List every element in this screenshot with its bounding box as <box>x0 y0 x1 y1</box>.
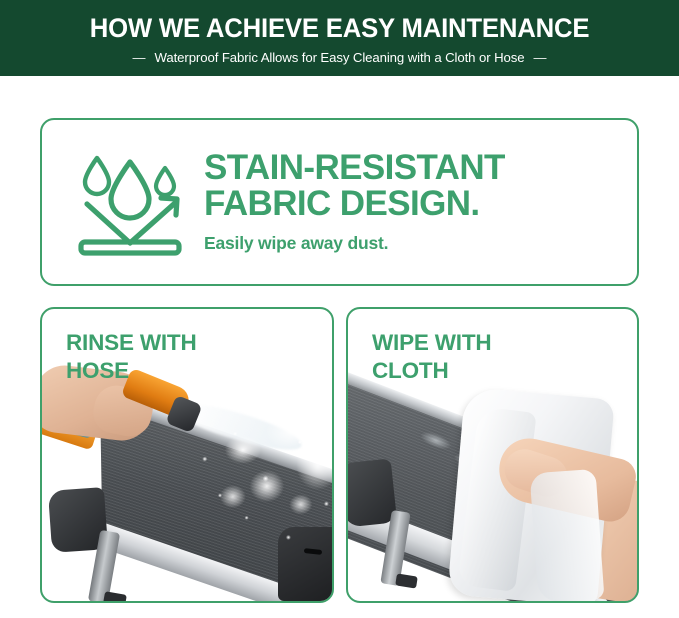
cot-leg-cap <box>395 573 418 588</box>
page-subtitle: Waterproof Fabric Allows for Easy Cleani… <box>155 50 525 65</box>
hand-spraying-hose-on-cot-photo <box>42 361 332 601</box>
panel-heading: RINSE WITH HOSE <box>66 329 197 385</box>
page-title: HOW WE ACHIEVE EASY MAINTENANCE <box>90 15 590 42</box>
feature-card: STAIN-RESISTANT FABRIC DESIGN. Easily wi… <box>40 118 639 286</box>
feature-heading: STAIN-RESISTANT FABRIC DESIGN. <box>204 150 505 222</box>
cloth-fold-right <box>530 469 605 601</box>
panel-wipe-with-cloth: WIPE WITH CLOTH <box>346 307 639 603</box>
feature-subheading: Easily wipe away dust. <box>204 233 505 254</box>
panel-rinse-with-hose: RINSE WITH HOSE <box>40 307 334 603</box>
subtitle-row: — Waterproof Fabric Allows for Easy Clea… <box>133 50 547 65</box>
dash-left-icon: — <box>133 51 146 64</box>
water-repellent-droplets-icon <box>64 146 196 258</box>
panel-heading: WIPE WITH CLOTH <box>372 329 491 385</box>
photo-content <box>42 361 332 601</box>
water-droplets <box>182 417 332 557</box>
photo-content <box>348 361 637 601</box>
page-header: HOW WE ACHIEVE EASY MAINTENANCE — Waterp… <box>0 0 679 76</box>
cot-leg-cap <box>103 591 127 601</box>
feature-text: STAIN-RESISTANT FABRIC DESIGN. Easily wi… <box>204 150 505 254</box>
hand-wiping-cot-with-cloth-photo <box>348 361 637 601</box>
dash-right-icon: — <box>533 51 546 64</box>
